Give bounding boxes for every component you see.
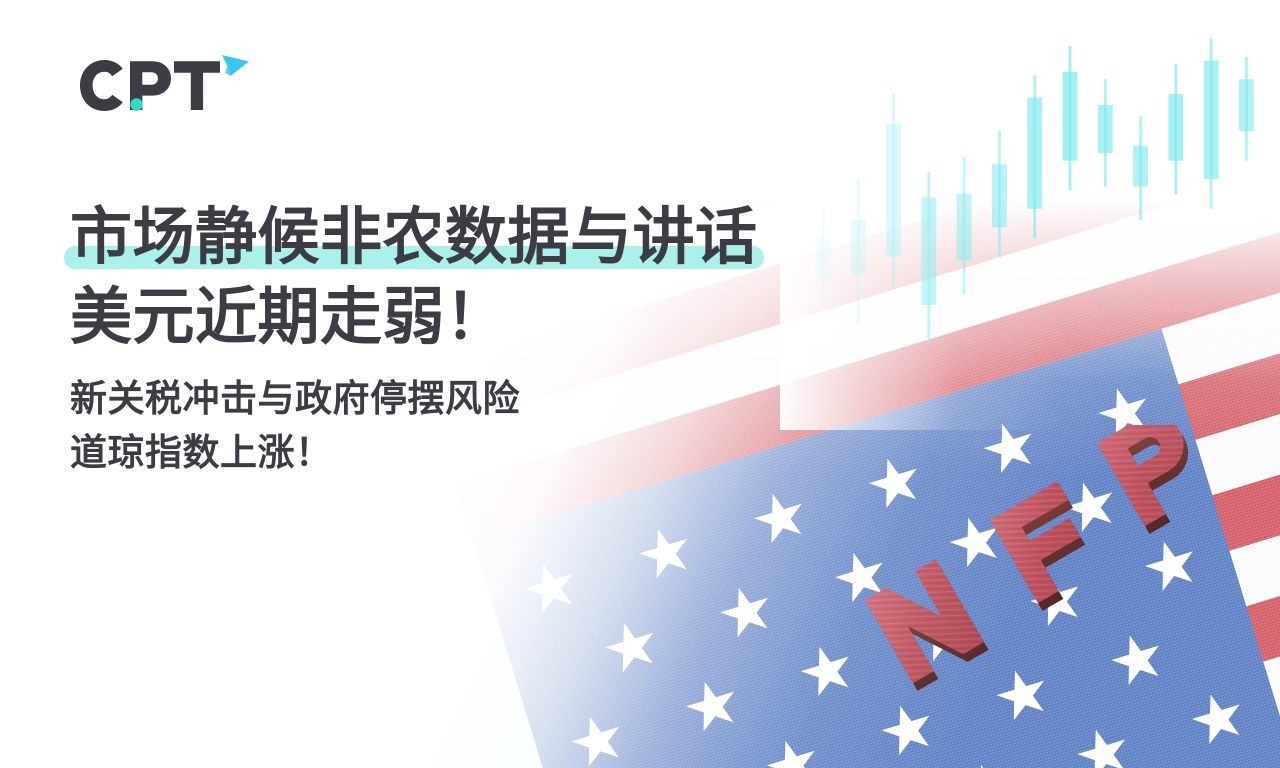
headline-line-2-text: 美元近期走弱！	[70, 283, 508, 352]
subheadline: 新关税冲击与政府停摆风险 道琼指数上涨！	[70, 372, 770, 480]
promo-banner: 市场静候非农数据与讲话 美元近期走弱！ 新关税冲击与政府停摆风险 道琼指数上涨！	[0, 0, 1280, 768]
logo-wordmark	[80, 60, 220, 111]
headline: 市场静候非农数据与讲话 美元近期走弱！	[70, 198, 850, 358]
headline-line-1: 市场静候非农数据与讲话	[70, 198, 850, 278]
cpt-logo[interactable]	[70, 52, 250, 124]
subheadline-line-1: 新关税冲击与政府停摆风险	[70, 372, 770, 426]
content-layer: 市场静候非农数据与讲话 美元近期走弱！ 新关税冲击与政府停摆风险 道琼指数上涨！	[0, 0, 1280, 768]
subheadline-line-2: 道琼指数上涨！	[70, 426, 770, 480]
logo-dot-icon	[130, 98, 142, 110]
headline-line-2: 美元近期走弱！	[70, 278, 850, 358]
headline-line-1-text: 市场静候非农数据与讲话	[70, 203, 758, 272]
